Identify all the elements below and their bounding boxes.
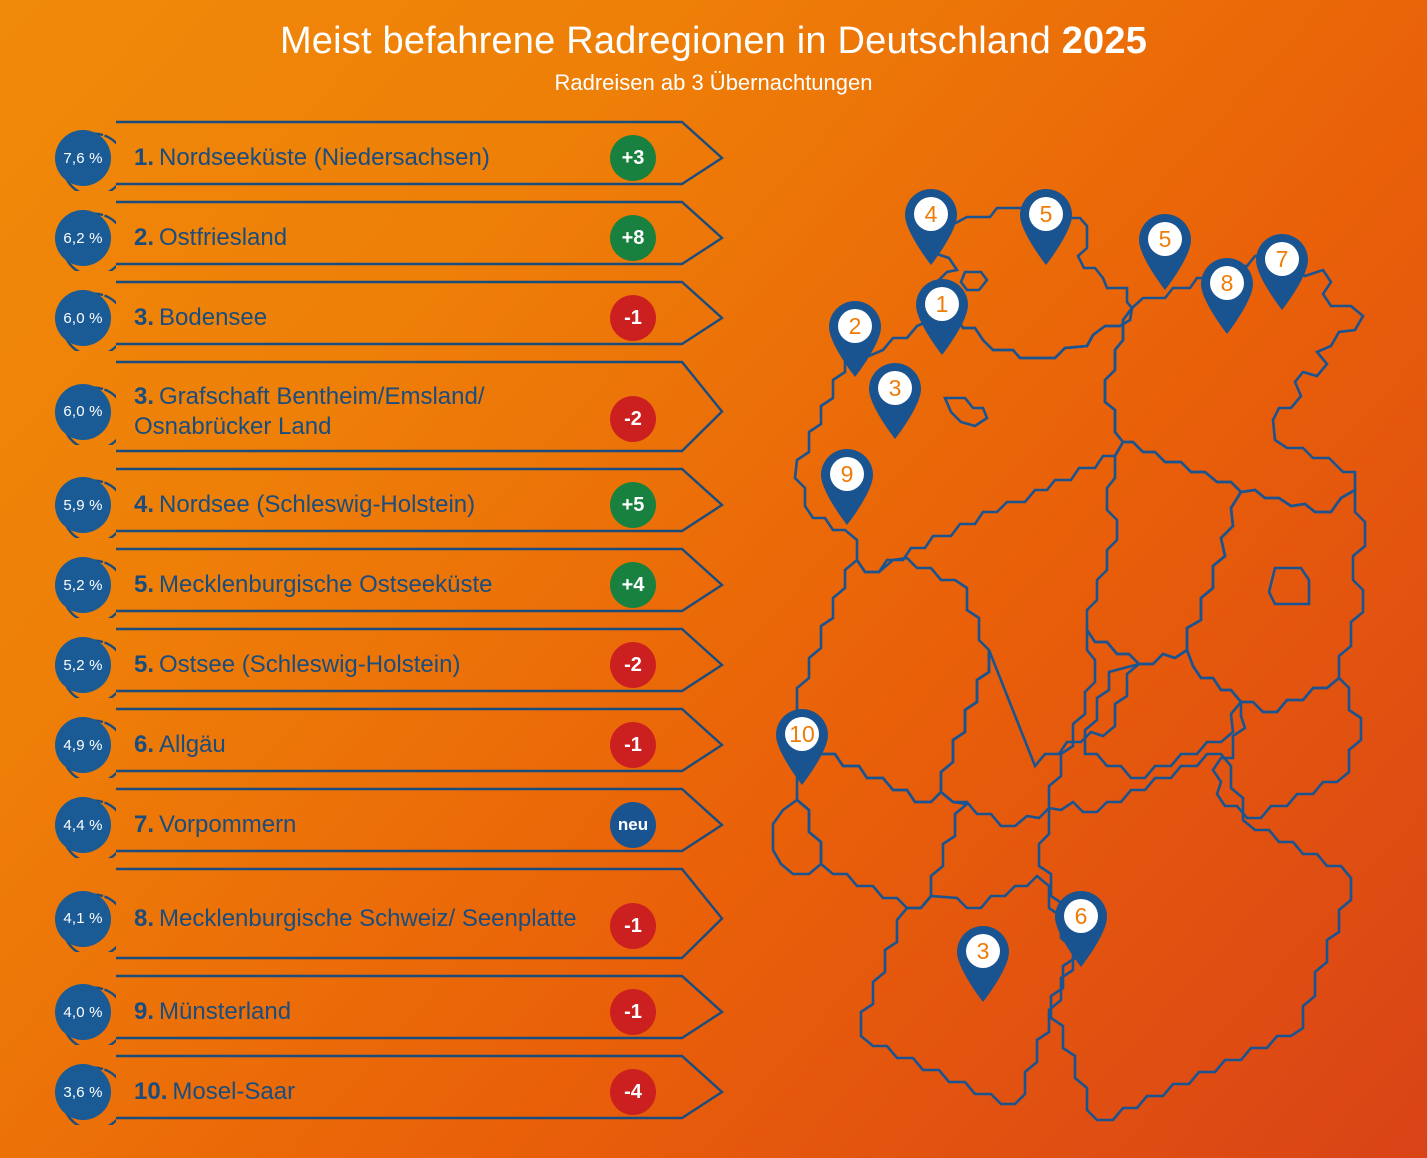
region-name: Mecklenburgische Schweiz/ Seenplatte bbox=[159, 905, 577, 932]
percentage-value: 6,2 % bbox=[63, 230, 102, 247]
ranking-list: 7,6 %1.Nordseeküste (Niedersachsen)+36,2… bbox=[42, 118, 722, 1132]
map-pin-number: 9 bbox=[817, 457, 877, 491]
percentage-disc: 7,6 % bbox=[55, 130, 111, 186]
region-label: 5.Ostsee (Schleswig-Holstein) bbox=[134, 650, 614, 680]
map-pin-number: 4 bbox=[901, 197, 961, 231]
title-year: 2025 bbox=[1062, 20, 1147, 62]
rank-number: 8. bbox=[134, 905, 154, 932]
percentage-circle: 4,9 % bbox=[50, 712, 116, 778]
percentage-disc: 6,0 % bbox=[55, 290, 111, 346]
percentage-value: 5,2 % bbox=[63, 657, 102, 674]
percentage-disc: 4,1 % bbox=[55, 891, 111, 947]
map-pin[interactable]: 5 bbox=[1135, 213, 1195, 291]
percentage-disc: 6,2 % bbox=[55, 210, 111, 266]
percentage-circle: 5,2 % bbox=[50, 552, 116, 618]
percentage-disc: 4,9 % bbox=[55, 717, 111, 773]
map-pin-number: 6 bbox=[1051, 899, 1111, 933]
rank-number: 5. bbox=[134, 571, 154, 598]
percentage-circle: 7,6 % bbox=[50, 125, 116, 191]
rank-change-badge: +3 bbox=[610, 135, 656, 181]
map-pin-number: 5 bbox=[1135, 222, 1195, 256]
percentage-value: 4,1 % bbox=[63, 910, 102, 927]
page-subtitle: Radreisen ab 3 Übernachtungen bbox=[0, 68, 1427, 98]
ranking-row[interactable]: 6,2 %2.Ostfriesland+8 bbox=[42, 198, 722, 278]
region-label: 1.Nordseeküste (Niedersachsen) bbox=[134, 143, 614, 173]
rank-number: 5. bbox=[134, 651, 154, 678]
percentage-circle: 5,2 % bbox=[50, 632, 116, 698]
region-label: 9.Münsterland bbox=[134, 997, 614, 1027]
rank-change-badge: -4 bbox=[610, 1069, 656, 1115]
percentage-circle: 5,9 % bbox=[50, 472, 116, 538]
map-pin[interactable]: 8 bbox=[1197, 257, 1257, 335]
ranking-row[interactable]: 4,4 %7.Vorpommernneu bbox=[42, 785, 722, 865]
title-main: Meist befahrene Radregionen in Deutschla… bbox=[280, 20, 1062, 62]
rank-number: 6. bbox=[134, 731, 154, 758]
percentage-circle: 4,4 % bbox=[50, 792, 116, 858]
region-label: 7.Vorpommern bbox=[134, 810, 614, 840]
ranking-row[interactable]: 5,2 %5.Mecklenburgische Ostseeküste+4 bbox=[42, 545, 722, 625]
rank-number: 1. bbox=[134, 144, 154, 171]
germany-map: 4557812391036 bbox=[735, 160, 1425, 1150]
map-pin[interactable]: 3 bbox=[865, 362, 925, 440]
rank-change-badge: -1 bbox=[610, 903, 656, 949]
ranking-row[interactable]: 4,1 %8.Mecklenburgische Schweiz/ Seenpla… bbox=[42, 865, 722, 972]
percentage-value: 7,6 % bbox=[63, 150, 102, 167]
map-pin[interactable]: 6 bbox=[1051, 890, 1111, 968]
percentage-disc: 5,2 % bbox=[55, 557, 111, 613]
map-pin-number: 7 bbox=[1252, 242, 1312, 276]
percentage-value: 4,9 % bbox=[63, 737, 102, 754]
map-pin[interactable]: 9 bbox=[817, 448, 877, 526]
percentage-value: 4,0 % bbox=[63, 1004, 102, 1021]
map-pin[interactable]: 10 bbox=[772, 708, 832, 786]
rank-number: 3. bbox=[134, 304, 154, 331]
map-pin-number: 5 bbox=[1016, 197, 1076, 231]
region-label: 4.Nordsee (Schleswig-Holstein) bbox=[134, 490, 614, 520]
percentage-disc: 6,0 % bbox=[55, 384, 111, 440]
rank-change-badge: +4 bbox=[610, 562, 656, 608]
region-name: Münsterland bbox=[159, 998, 291, 1025]
region-name: Mecklenburgische Ostseeküste bbox=[159, 571, 493, 598]
map-pin[interactable]: 3 bbox=[953, 925, 1013, 1003]
rank-number: 3. bbox=[134, 383, 154, 410]
region-name: Bodensee bbox=[159, 304, 267, 331]
region-name: Ostsee (Schleswig-Holstein) bbox=[159, 651, 460, 678]
ranking-row[interactable]: 3,6 %10.Mosel-Saar-4 bbox=[42, 1052, 722, 1132]
percentage-disc: 4,4 % bbox=[55, 797, 111, 853]
rank-change-badge: -2 bbox=[610, 642, 656, 688]
map-pin-number: 10 bbox=[772, 717, 832, 751]
rank-change-badge: -2 bbox=[610, 396, 656, 442]
percentage-value: 6,0 % bbox=[63, 403, 102, 420]
map-pin[interactable]: 5 bbox=[1016, 188, 1076, 266]
header: Meist befahrene Radregionen in Deutschla… bbox=[0, 18, 1427, 98]
ranking-row[interactable]: 6,0 %3.Bodensee-1 bbox=[42, 278, 722, 358]
map-pin[interactable]: 4 bbox=[901, 188, 961, 266]
percentage-disc: 4,0 % bbox=[55, 984, 111, 1040]
region-name: Mosel-Saar bbox=[172, 1078, 295, 1105]
map-pin-number: 2 bbox=[825, 309, 885, 343]
ranking-row[interactable]: 4,9 %6.Allgäu-1 bbox=[42, 705, 722, 785]
percentage-value: 6,0 % bbox=[63, 310, 102, 327]
percentage-disc: 5,9 % bbox=[55, 477, 111, 533]
percentage-circle: 4,0 % bbox=[50, 979, 116, 1045]
rank-number: 7. bbox=[134, 811, 154, 838]
region-label: 5.Mecklenburgische Ostseeküste bbox=[134, 570, 614, 600]
region-label: 8.Mecklenburgische Schweiz/ Seenplatte bbox=[134, 904, 614, 934]
rank-change-badge: -1 bbox=[610, 989, 656, 1035]
percentage-circle: 3,6 % bbox=[50, 1059, 116, 1125]
map-pin-number: 3 bbox=[865, 371, 925, 405]
percentage-disc: 5,2 % bbox=[55, 637, 111, 693]
percentage-disc: 3,6 % bbox=[55, 1064, 111, 1120]
region-name: Grafschaft Bentheim/Emsland/ Osnabrücker… bbox=[134, 383, 485, 440]
rank-number: 10. bbox=[134, 1078, 167, 1105]
map-pin-number: 3 bbox=[953, 934, 1013, 968]
rank-number: 4. bbox=[134, 491, 154, 518]
region-label: 10.Mosel-Saar bbox=[134, 1077, 614, 1107]
percentage-value: 3,6 % bbox=[63, 1084, 102, 1101]
region-name: Nordseeküste (Niedersachsen) bbox=[159, 144, 490, 171]
percentage-circle: 6,2 % bbox=[50, 205, 116, 271]
region-label: 6.Allgäu bbox=[134, 730, 614, 760]
percentage-circle: 4,1 % bbox=[50, 886, 116, 952]
map-pin-number: 1 bbox=[912, 287, 972, 321]
rank-change-badge: neu bbox=[610, 802, 656, 848]
page-title: Meist befahrene Radregionen in Deutschla… bbox=[0, 18, 1427, 64]
map-pin[interactable]: 7 bbox=[1252, 233, 1312, 311]
rank-number: 2. bbox=[134, 224, 154, 251]
rank-change-badge: +8 bbox=[610, 215, 656, 261]
map-pin-number: 8 bbox=[1197, 266, 1257, 300]
percentage-value: 4,4 % bbox=[63, 817, 102, 834]
ranking-row[interactable]: 5,9 %4.Nordsee (Schleswig-Holstein)+5 bbox=[42, 465, 722, 545]
percentage-value: 5,9 % bbox=[63, 497, 102, 514]
ranking-row[interactable]: 6,0 %3.Grafschaft Bentheim/Emsland/ Osna… bbox=[42, 358, 722, 465]
map-pin[interactable]: 1 bbox=[912, 278, 972, 356]
region-name: Ostfriesland bbox=[159, 224, 287, 251]
region-label: 2.Ostfriesland bbox=[134, 223, 614, 253]
rank-change-badge: -1 bbox=[610, 295, 656, 341]
region-name: Allgäu bbox=[159, 731, 226, 758]
percentage-circle: 6,0 % bbox=[50, 285, 116, 351]
ranking-row[interactable]: 4,0 %9.Münsterland-1 bbox=[42, 972, 722, 1052]
rank-change-badge: +5 bbox=[610, 482, 656, 528]
percentage-value: 5,2 % bbox=[63, 577, 102, 594]
percentage-circle: 6,0 % bbox=[50, 379, 116, 445]
region-label: 3.Grafschaft Bentheim/Emsland/ Osnabrück… bbox=[134, 382, 614, 442]
region-name: Vorpommern bbox=[159, 811, 296, 838]
rank-change-badge: -1 bbox=[610, 722, 656, 768]
ranking-row[interactable]: 5,2 %5.Ostsee (Schleswig-Holstein)-2 bbox=[42, 625, 722, 705]
region-label: 3.Bodensee bbox=[134, 303, 614, 333]
ranking-row[interactable]: 7,6 %1.Nordseeküste (Niedersachsen)+3 bbox=[42, 118, 722, 198]
rank-number: 9. bbox=[134, 998, 154, 1025]
region-name: Nordsee (Schleswig-Holstein) bbox=[159, 491, 475, 518]
